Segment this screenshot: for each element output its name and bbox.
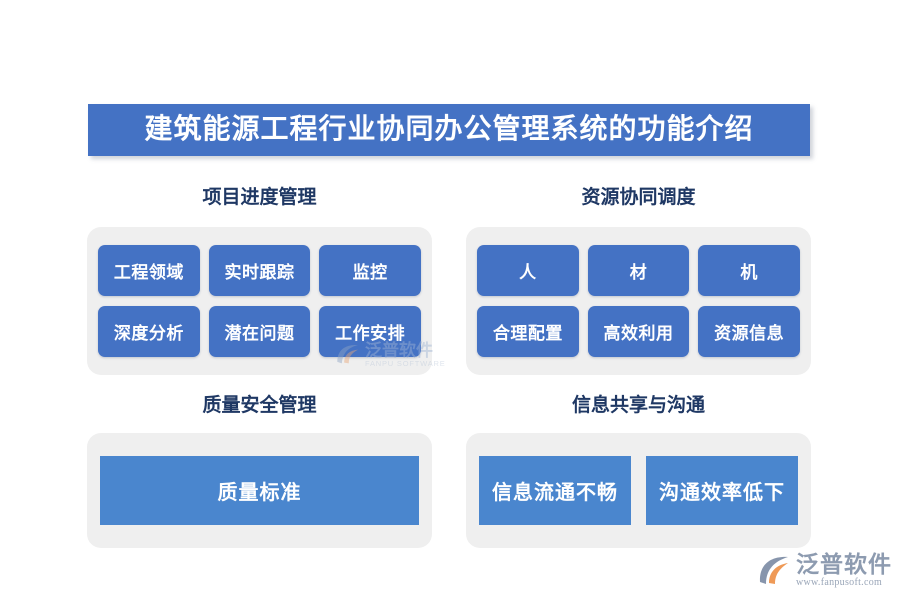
fanpu-logo-icon xyxy=(757,555,791,587)
page-title: 建筑能源工程行业协同办公管理系统的功能介绍 xyxy=(144,116,753,144)
brand-logo-text: 泛普软件 www.fanpusoft.com xyxy=(796,553,892,589)
chip-item[interactable]: 资源信息 xyxy=(698,306,800,357)
block-item[interactable]: 信息流通不畅 xyxy=(479,456,631,525)
slide-title-bar: 建筑能源工程行业协同办公管理系统的功能介绍 xyxy=(88,104,810,156)
chip-item[interactable]: 人 xyxy=(477,245,579,296)
block-row: 信息流通不畅 沟通效率低下 xyxy=(466,433,811,548)
brand-logo: 泛普软件 www.fanpusoft.com xyxy=(757,549,895,593)
chip-item[interactable]: 实时跟踪 xyxy=(209,245,311,296)
chip-item[interactable]: 材 xyxy=(588,245,690,296)
chip-item[interactable]: 深度分析 xyxy=(98,306,200,357)
slide-canvas: 建筑能源工程行业协同办公管理系统的功能介绍 项目进度管理 资源协同调度 质量安全… xyxy=(0,0,900,600)
section-heading-resource-coordination: 资源协同调度 xyxy=(466,188,811,207)
section-card-project-progress: 工程领域 实时跟踪 监控 深度分析 潜在问题 工作安排 xyxy=(87,227,432,375)
section-card-information-sharing: 信息流通不畅 沟通效率低下 xyxy=(466,433,811,548)
block-item[interactable]: 沟通效率低下 xyxy=(646,456,798,525)
brand-website: www.fanpusoft.com xyxy=(796,577,892,589)
chip-item[interactable]: 监控 xyxy=(319,245,421,296)
chip-item[interactable]: 潜在问题 xyxy=(209,306,311,357)
section-heading-quality-safety: 质量安全管理 xyxy=(87,396,432,415)
section-card-resource-coordination: 人 材 机 合理配置 高效利用 资源信息 xyxy=(466,227,811,375)
chip-item[interactable]: 高效利用 xyxy=(588,306,690,357)
chip-item[interactable]: 合理配置 xyxy=(477,306,579,357)
chip-item[interactable]: 机 xyxy=(698,245,800,296)
chip-grid: 工程领域 实时跟踪 监控 深度分析 潜在问题 工作安排 xyxy=(87,227,432,375)
brand-name: 泛普软件 xyxy=(796,553,892,577)
section-heading-information-sharing: 信息共享与沟通 xyxy=(466,396,811,415)
chip-item[interactable]: 工程领域 xyxy=(98,245,200,296)
section-heading-project-progress: 项目进度管理 xyxy=(87,188,432,207)
block-row: 质量标准 xyxy=(87,433,432,548)
chip-grid: 人 材 机 合理配置 高效利用 资源信息 xyxy=(466,227,811,375)
chip-item[interactable]: 工作安排 xyxy=(319,306,421,357)
section-card-quality-safety: 质量标准 xyxy=(87,433,432,548)
block-item[interactable]: 质量标准 xyxy=(100,456,419,525)
